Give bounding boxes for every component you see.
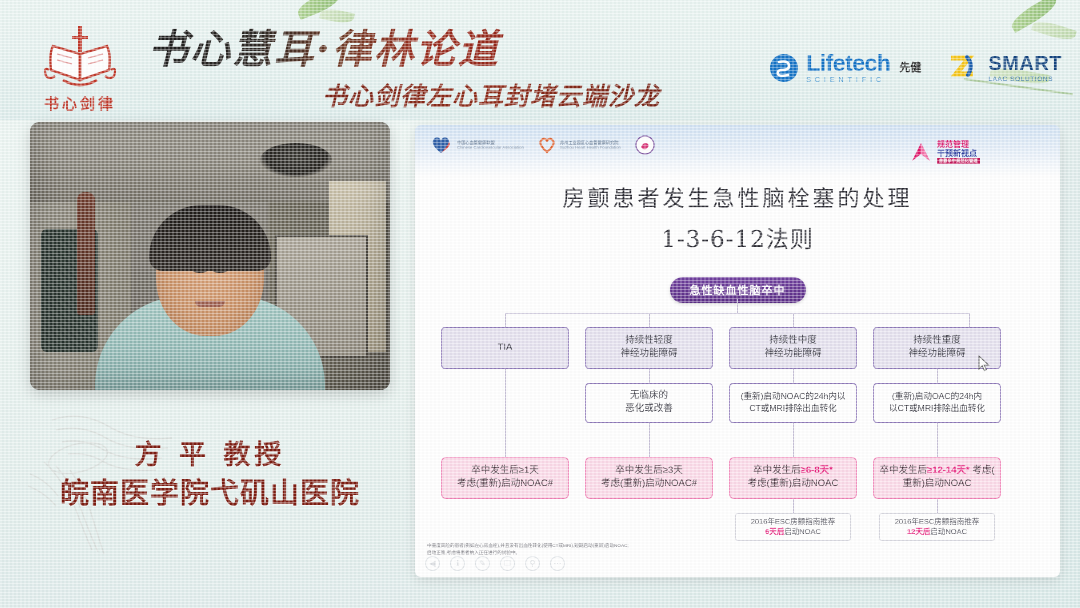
brand-logo-text: 书心剑律 [26,93,134,114]
flow-node-severe-line1: 持续性重度 [913,335,961,348]
flow-esc-note-moderate-line2: 6天后启动NOAC [765,527,821,537]
flow-esc-note-severe-days: 12天后 [907,527,930,536]
sponsor-smart: SMART LAAC SOLUTIONS [947,53,1062,83]
flow-node-moderate[interactable]: 持续性中度 神经功能障碍 [729,327,857,369]
flow-action-mild-line2: 考虑(重新)启动NOAC# [601,478,697,491]
lifetech-wordmark: Lifetech [806,52,890,75]
lifetech-mark-icon [769,53,799,83]
mouse-pointer-icon [978,355,990,372]
flow-esc-note-moderate[interactable]: 2016年ESC房颤指南推荐 6天后启动NOAC [735,513,851,541]
flow-node-moderate-stage2-line1: (重新)启动NOAC的24h内以 [740,391,845,403]
heart-outline-icon [538,136,556,154]
connector-moderate2-down [793,423,794,457]
flow-node-severe-stage2-line1: (重新)启动OAC的24h内 [892,391,982,403]
badge-arrow-icon [908,139,934,165]
connector-moderate-down [793,369,794,383]
flow-node-moderate-line2: 神经功能障碍 [764,348,821,361]
flow-node-severe-stage2[interactable]: (重新)启动OAC的24h内 以CT或MRI排除出血转化 [873,383,1001,423]
event-title-calligraphy: 书心慧耳·律林论道 [148,18,568,82]
presenter-name: 方 平 教授 [30,433,390,472]
slide-campaign-badge: 规范管理 干预新视点 房颤卒中规范化管理 [908,135,1008,169]
flow-esc-note-moderate-line1: 2016年ESC房颤指南推荐 [751,517,836,527]
video-frame [30,122,390,390]
badge-text: 规范管理 干预新视点 房颤卒中规范化管理 [937,140,980,165]
connector-to-severe [969,313,970,327]
slide-footnote-line1: 中重度风险的患者(例如左心房血栓),并且没有出血性转化(使用CT或MRI),短期… [427,543,887,550]
connector-severe2-down [937,423,938,457]
smart-subtext: LAAC SOLUTIONS [988,76,1062,83]
flow-esc-note-severe-line1: 2016年ESC房颤指南推荐 [895,517,980,527]
flowchart: 急性缺血性脑卒中 TIA 持续性轻度 神经功能障碍 持续性中度 神经功能障碍 持… [415,265,1060,565]
badge-line1: 规范管理 [937,140,980,149]
leaf-decor-4 [1031,18,1077,44]
presenter-affiliation: 皖南医学院弋矶山医院 [14,470,406,512]
slide-title: 房颤患者发生急性脑栓塞的处理 [415,181,1060,213]
org-logo-cca: 中国心血管健康联盟 Chinese Cardiovascular Associa… [429,135,524,155]
slide-footnote: 中重度风险的患者(例如左心房血栓),并且没有出血性转化(使用CT或MRI),短期… [427,543,887,557]
lifetech-subtext: SCIENTIFIC [806,77,890,84]
flow-action-severe-prefix: 卒中发生后 [879,465,927,476]
slide-org-logo-row: 中国心血管健康联盟 Chinese Cardiovascular Associa… [429,135,655,155]
flow-node-mild[interactable]: 持续性轻度 神经功能障碍 [585,327,713,369]
flow-action-severe-days: ≥12-14天* [927,465,970,476]
flow-node-mild-line2: 神经功能障碍 [620,348,677,361]
flow-node-severe-stage2-line2: 以CT或MRI排除出血转化 [889,403,985,415]
flow-esc-note-severe-line2: 12天后启动NOAC [907,527,967,537]
video-person-mouth [195,301,225,307]
connector-mild-down [649,369,650,383]
book-sword-emblem-icon [41,24,119,94]
flow-action-severe-suffix: 考虑( [970,465,995,476]
video-person-hair [149,205,271,271]
org-shhf-en: Suzhou Heart Health Foundation [560,145,621,150]
connector-root-down [737,299,738,313]
flow-action-severe[interactable]: 卒中发生后≥12-14天* 考虑( 重新)启动NOAC [873,457,1001,499]
connector-severe-esc [937,499,938,513]
flow-node-tia-label: TIA [498,342,513,355]
connector-tia-down [505,369,506,457]
heart-hands-icon [429,135,453,155]
slide-subtitle-rule: 1-3-6-12法则 [415,220,1060,254]
flow-action-tia-line2: 考虑(重新)启动NOAC# [457,478,553,491]
connector-to-tia [505,313,506,327]
flow-action-moderate-line1: 卒中发生后≥6-8天* [753,465,833,478]
connector-mild2-down [649,423,650,457]
flow-esc-note-severe[interactable]: 2016年ESC房颤指南推荐 12天后启动NOAC [879,513,995,541]
flow-node-moderate-stage2-line2: CT或MRI排除出血转化 [749,403,836,415]
org-logo-shhf-text: 苏州工业园区心血管健康研究院 Suzhou Heart Health Found… [560,140,621,151]
flow-node-severe-line2: 神经功能障碍 [908,348,965,361]
pen-icon[interactable]: ✎ [475,556,490,571]
flow-esc-note-moderate-tail: 启动NOAC [784,527,821,536]
lifetech-chinese-name: 先健 [899,62,921,74]
header-banner: 书心剑律 书心慧耳·律林论道 书心剑律左心耳封堵云端沙龙 Lifetech SC… [0,0,1080,120]
smart-wordmark: SMART [988,54,1062,74]
connector-to-mild [649,313,650,327]
flow-node-mild-stage2-line1: 无临床的 [630,390,668,403]
event-brand-logo: 书心剑律 [26,22,134,114]
connector-row1-bus [505,313,969,314]
flow-action-moderate-days: ≥6-8天* [801,465,833,476]
smart-mark-icon [947,53,981,83]
flow-action-mild-line1: 卒中发生后≥3天 [615,465,683,478]
prev-icon[interactable]: ◀ [425,556,440,571]
connector-moderate-esc [793,499,794,513]
org-logo-afcenter [635,135,655,155]
speaker-video-tile[interactable] [30,122,390,390]
connector-to-moderate [793,313,794,327]
flow-action-moderate-line2: 考虑(重新)启动NOAC [748,478,839,491]
info-icon[interactable]: ℹ [450,556,465,571]
flow-action-tia[interactable]: 卒中发生后≥1天 考虑(重新)启动NOAC# [441,457,569,499]
flow-action-moderate[interactable]: 卒中发生后≥6-8天* 考虑(重新)启动NOAC [729,457,857,499]
sponsor-logo-row: Lifetech SCIENTIFIC 先健 SMART LAAC SOLUTI… [769,52,1062,84]
shared-slide-panel[interactable]: 中国心血管健康联盟 Chinese Cardiovascular Associa… [415,125,1060,577]
org-cca-en: Chinese Cardiovascular Association [457,145,524,150]
flow-node-mild-stage2[interactable]: 无临床的 恶化或改善 [585,383,713,423]
flow-node-mild-line1: 持续性轻度 [625,335,673,348]
flow-action-tia-line1: 卒中发生后≥1天 [471,465,539,478]
flow-action-mild[interactable]: 卒中发生后≥3天 考虑(重新)启动NOAC# [585,457,713,499]
badge-strip: 房颤卒中规范化管理 [937,158,980,165]
save-icon[interactable]: ☐ [500,556,515,571]
flow-node-moderate-line1: 持续性中度 [769,335,817,348]
slide-toolbar[interactable]: ◀ ℹ ✎ ☐ ⚲ ⋯ [425,556,565,571]
more-icon[interactable]: ⋯ [550,556,565,571]
zoom-icon[interactable]: ⚲ [525,556,540,571]
flow-esc-note-moderate-days: 6天后 [765,527,784,536]
badge-line2: 干预新视点 [937,149,980,158]
video-bg-chair [77,192,95,315]
flow-action-moderate-prefix: 卒中发生后 [753,465,801,476]
flow-node-mild-stage2-line2: 恶化或改善 [625,403,673,416]
flow-action-severe-line2: 重新)启动NOAC [903,478,972,491]
org-logo-shhf: 苏州工业园区心血管健康研究院 Suzhou Heart Health Found… [538,136,621,154]
flow-node-tia[interactable]: TIA [441,327,569,369]
event-subtitle-calligraphy: 书心剑律左心耳封堵云端沙龙 [322,82,722,112]
connector-severe-down [937,369,938,383]
screen-root: 书心剑律 书心慧耳·律林论道 书心剑律左心耳封堵云端沙龙 Lifetech SC… [0,0,1080,608]
sponsor-lifetech: Lifetech SCIENTIFIC 先健 [769,52,921,84]
af-center-seal-icon [635,135,655,155]
flow-esc-note-severe-tail: 启动NOAC [930,527,967,536]
org-logo-cca-text: 中国心血管健康联盟 Chinese Cardiovascular Associa… [457,140,524,151]
flow-node-moderate-stage2[interactable]: (重新)启动NOAC的24h内以 CT或MRI排除出血转化 [729,383,857,423]
flow-action-severe-line1: 卒中发生后≥12-14天* 考虑( [879,465,994,478]
